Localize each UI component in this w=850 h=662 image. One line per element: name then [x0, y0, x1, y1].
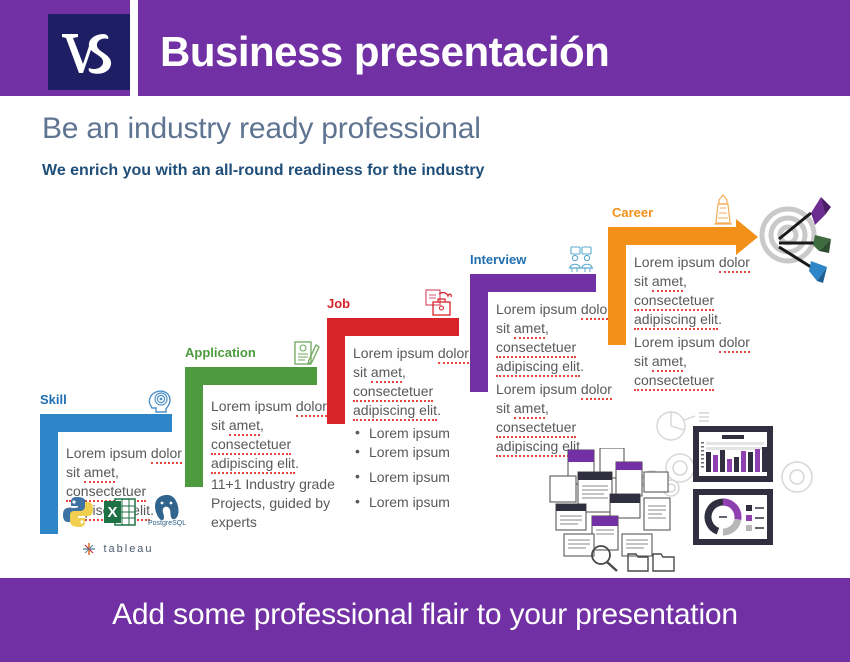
- list-item: Lorem ipsum: [353, 424, 478, 443]
- bracket-arm-vertical: [470, 274, 488, 392]
- stage-interview-label: Interview: [470, 252, 526, 267]
- stage-job-body: Lorem ipsum dolorsit amet, consectetuera…: [353, 344, 478, 420]
- page-title: Be an industry ready professional: [42, 112, 481, 146]
- list-item: Lorem ipsum: [353, 443, 478, 462]
- tower-icon: [708, 193, 738, 232]
- stage-job-bullets: Lorem ipsum Lorem ipsum Lorem ipsum Lore…: [353, 424, 478, 512]
- page-subtitle: We enrich you with an all-round readines…: [42, 162, 484, 180]
- stage-application-body: Lorem ipsum dolorsit amet, consectetuera…: [211, 397, 336, 473]
- magnifier-icon: [588, 543, 622, 578]
- folders-icon: [626, 550, 678, 579]
- header-title: Business presentación: [160, 20, 830, 84]
- list-item: Lorem ipsum: [353, 468, 478, 487]
- python-logo: [60, 494, 96, 535]
- bracket-arm-vertical: [40, 414, 58, 534]
- blue-arrow: [779, 247, 827, 283]
- donut-chart-panel: [692, 488, 774, 551]
- bracket-arm-vertical: [608, 227, 626, 345]
- svg-text:X: X: [107, 504, 117, 521]
- postgresql-logo: PostgreSQL: [150, 492, 184, 529]
- stage-interview-body: Lorem ipsum dolorsit amet, consectetuera…: [496, 300, 621, 376]
- purple-arrow: [779, 197, 831, 239]
- gear-wheel-right-icon: [775, 455, 825, 510]
- stage-application-label: Application: [185, 345, 256, 360]
- briefcase-icon: [423, 288, 453, 323]
- excel-logo: X: [102, 494, 138, 535]
- stage-skill-label: Skill: [40, 392, 67, 407]
- stage-application-note: 11+1 Industry grade Projects, guided by …: [211, 475, 336, 532]
- stage-career-label: Career: [612, 205, 653, 220]
- document-pen-icon: [290, 339, 320, 374]
- stage-interview-note: Lorem ipsum dolorsit amet, consectetuera…: [496, 380, 621, 456]
- tableau-logo-label: tableau: [103, 543, 153, 555]
- interview-people-icon: [566, 244, 596, 279]
- bracket-arm-vertical: [185, 367, 203, 487]
- vs-monogram-icon: [58, 26, 120, 78]
- footer-text: Add some professional flair to your pres…: [0, 598, 850, 632]
- tableau-logo: tableau: [82, 540, 154, 558]
- bracket-arm-vertical: [327, 318, 345, 424]
- head-brain-icon: [145, 386, 175, 421]
- tableau-mark-icon: [82, 542, 96, 556]
- bar-chart-panel: [692, 425, 774, 488]
- vs-logo: [48, 14, 130, 90]
- postgresql-logo-label: PostgreSQL: [148, 520, 186, 527]
- stage-career-note: Lorem ipsum dolorsit amet, consectetuer: [634, 333, 764, 390]
- stage-job-label: Job: [327, 296, 350, 311]
- target-arrows: [775, 195, 850, 295]
- header-logo-divider: [130, 0, 138, 96]
- list-item: Lorem ipsum: [353, 493, 478, 512]
- stage-career-body: Lorem ipsum dolorsit amet, consectetuera…: [634, 253, 764, 329]
